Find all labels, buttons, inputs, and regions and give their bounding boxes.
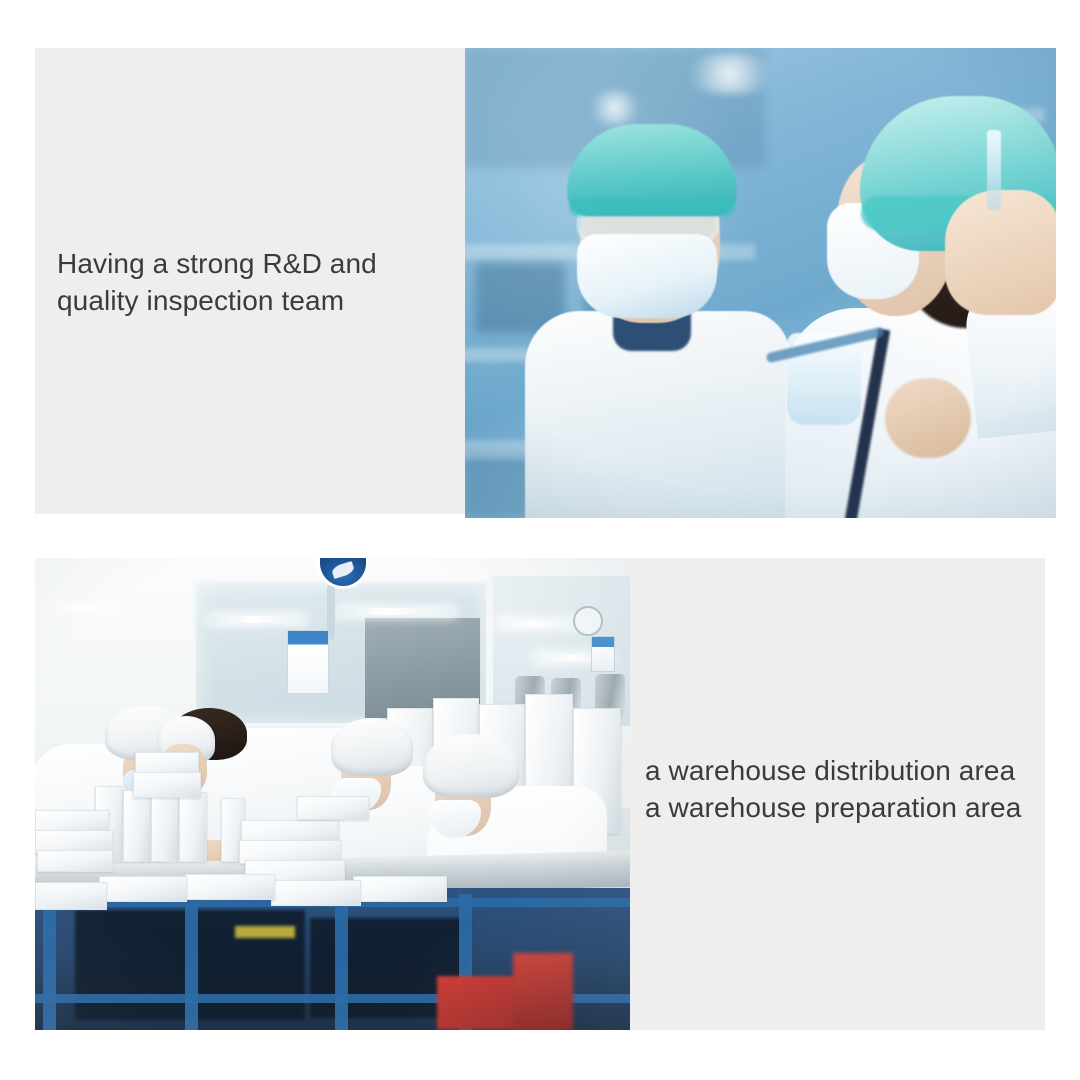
lab-technician-profile xyxy=(765,78,1056,518)
ceiling-light-2 xyxy=(335,608,455,615)
worker-right-hairnet xyxy=(423,734,519,798)
carton-flat-8 xyxy=(353,876,447,902)
carton-flat-14 xyxy=(133,772,201,798)
ceiling-light-1 xyxy=(210,616,305,623)
lab-front-hairnet-band xyxy=(569,198,735,216)
carton-upright-2 xyxy=(123,790,151,862)
blue-info-placard xyxy=(287,630,329,694)
table-leg-1 xyxy=(43,894,56,1030)
carton-flat-10 xyxy=(185,874,275,900)
rnd-lab-photo xyxy=(465,48,1056,518)
yellow-floor-marking xyxy=(235,926,295,938)
carton-upright-4 xyxy=(179,792,207,862)
lab-glass-vial xyxy=(987,130,1001,210)
warehouse-photo xyxy=(35,558,630,1030)
warehouse-caption-text: a warehouse distribution area a warehous… xyxy=(645,752,1045,826)
carton-flat-7 xyxy=(297,796,369,820)
worker-middle-hairnet xyxy=(331,718,413,776)
table-leg-2 xyxy=(185,894,198,1030)
ceiling-light-3 xyxy=(497,620,577,627)
lab-profile-hand xyxy=(945,190,1056,315)
lab-profile-lower-hand xyxy=(885,378,971,458)
page-root: Having a strong R&D and quality inspecti… xyxy=(0,0,1080,1080)
lab-front-mask xyxy=(577,234,717,318)
sign-glyph-icon xyxy=(331,561,356,579)
wall-clock-icon xyxy=(573,606,603,636)
carton-flat-9 xyxy=(271,880,361,906)
carton-flat-12 xyxy=(35,882,107,910)
blue-info-placard-secondary xyxy=(591,636,615,672)
carton-flat-3 xyxy=(37,850,113,872)
ceiling-light-4 xyxy=(47,604,117,611)
red-crate-2 xyxy=(513,953,573,1030)
lab-technician-front xyxy=(525,106,790,518)
carton-flat-11 xyxy=(99,876,187,902)
rnd-caption-text: Having a strong R&D and quality inspecti… xyxy=(57,245,457,319)
table-leg-3 xyxy=(335,894,348,1030)
